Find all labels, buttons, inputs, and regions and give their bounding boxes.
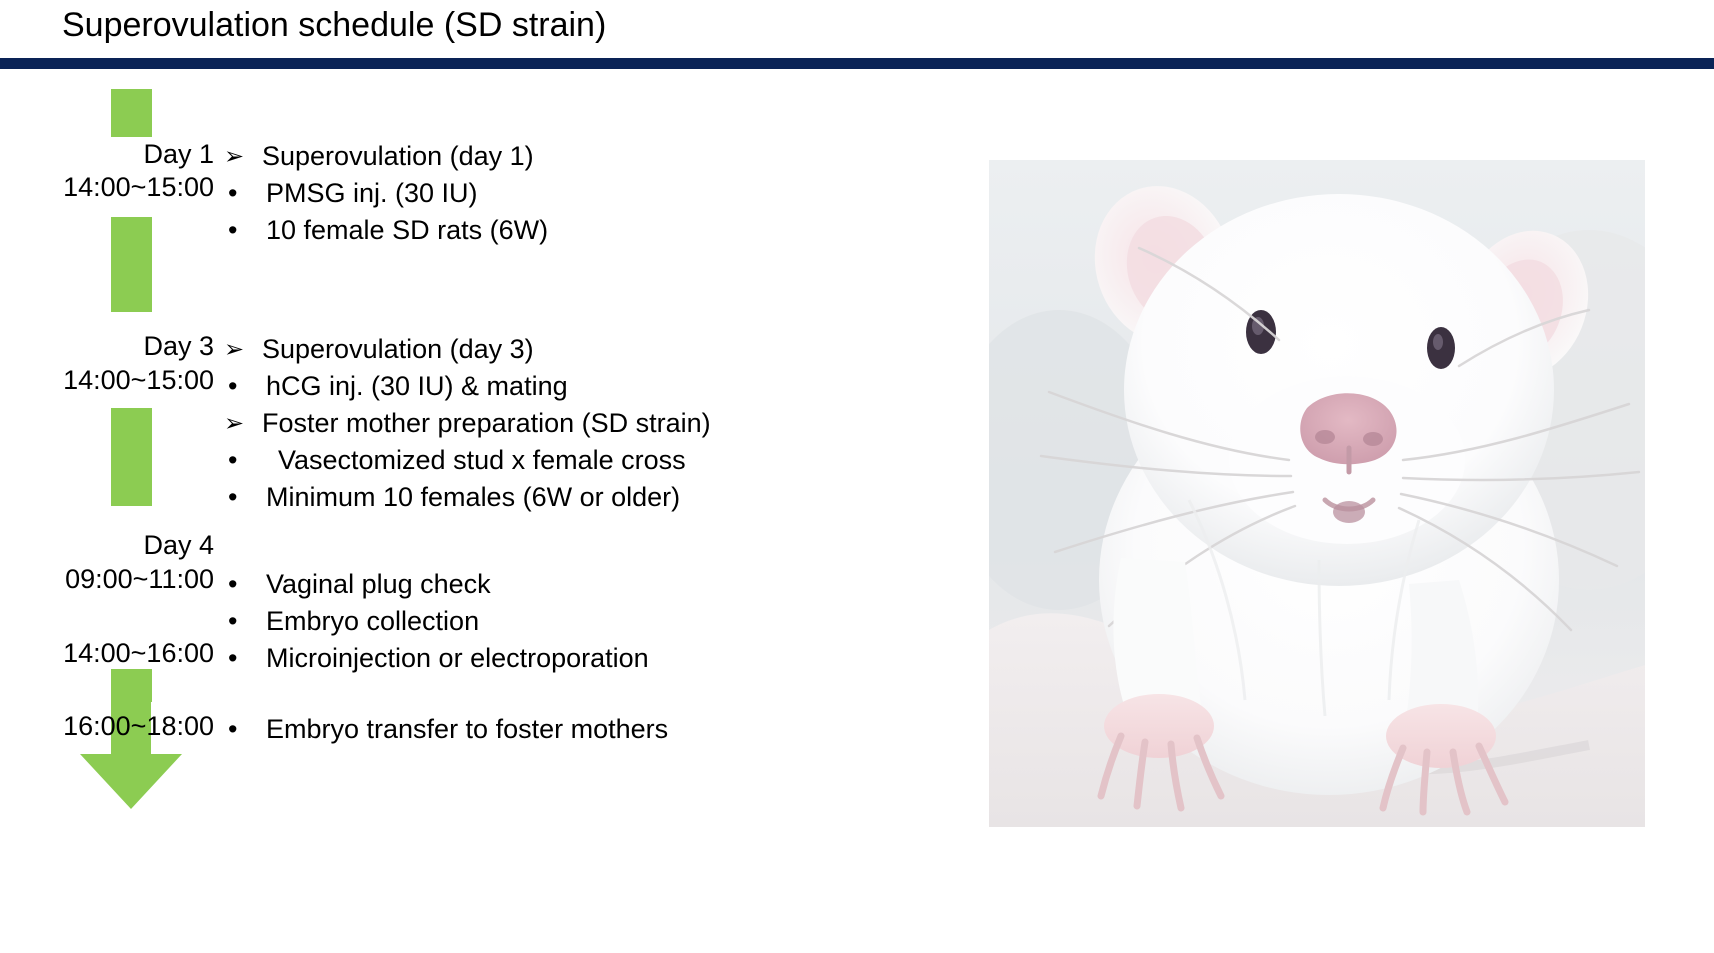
timeline-label-day4: Day 4 (0, 527, 214, 563)
dot-bullet-icon: • (224, 368, 266, 405)
timeline-time-day3: 14:00~15:00 (0, 362, 214, 398)
bullet-text: Vasectomized stud x female cross (266, 442, 686, 479)
timeline-segment-4 (111, 669, 152, 702)
bullet-text: Foster mother preparation (SD strain) (262, 405, 711, 442)
arrow-bullet-icon: ➢ (224, 405, 262, 442)
timeline-time-day4-third: 16:00~18:00 (0, 708, 214, 744)
bullet-group-day3: ➢Superovulation (day 3)•hCG inj. (30 IU)… (224, 331, 964, 516)
dot-bullet-icon: • (224, 566, 266, 603)
arrow-bullet-icon: ➢ (224, 331, 262, 368)
bullet-group-day1: ➢Superovulation (day 1)•PMSG inj. (30 IU… (224, 138, 964, 249)
bullet-line: •Embryo transfer to foster mothers (224, 711, 964, 748)
bullet-text: Minimum 10 females (6W or older) (266, 479, 680, 516)
bullet-group-day4-morning: •Vaginal plug check•Embryo collection•Mi… (224, 566, 964, 677)
bullet-line: ➢Superovulation (day 1) (224, 138, 964, 175)
bullet-text: Vaginal plug check (266, 566, 491, 603)
bullet-text: Embryo collection (266, 603, 479, 640)
arrow-bullet-icon: ➢ (224, 138, 262, 175)
bullet-text: Superovulation (day 1) (262, 138, 534, 175)
dot-bullet-icon: • (224, 603, 266, 640)
timeline-time-day1: 14:00~15:00 (0, 169, 214, 205)
dot-bullet-icon: • (224, 711, 266, 748)
bullet-text: Embryo transfer to foster mothers (266, 711, 668, 748)
bullet-text: PMSG inj. (30 IU) (266, 175, 478, 212)
timeline-segment-3 (111, 408, 152, 506)
bullet-line: •Microinjection or electroporation (224, 640, 964, 677)
timeline-column: Day 1 14:00~15:00 Day 3 14:00~15:00 Day … (0, 69, 240, 953)
bullet-group-day4-evening: •Embryo transfer to foster mothers (224, 711, 964, 748)
white-albino-sd-rat-photo (989, 160, 1645, 827)
title-divider (0, 58, 1714, 69)
timeline-time-day4-first: 09:00~11:00 (0, 561, 214, 597)
timeline-time-day4-second: 14:00~16:00 (0, 635, 214, 671)
content-column: ➢Superovulation (day 1)•PMSG inj. (30 IU… (224, 69, 964, 953)
bullet-text: Microinjection or electroporation (266, 640, 649, 677)
timeline-segment-1 (111, 89, 152, 137)
bullet-line: •hCG inj. (30 IU) & mating (224, 368, 964, 405)
dot-bullet-icon: • (224, 442, 266, 479)
dot-bullet-icon: • (224, 175, 266, 212)
timeline-label-day3: Day 3 (0, 328, 214, 364)
bullet-line: ➢Superovulation (day 3) (224, 331, 964, 368)
dot-bullet-icon: • (224, 479, 266, 516)
bullet-text: hCG inj. (30 IU) & mating (266, 368, 568, 405)
bullet-line: •PMSG inj. (30 IU) (224, 175, 964, 212)
dot-bullet-icon: • (224, 640, 266, 677)
timeline-segment-2 (111, 217, 152, 312)
bullet-line: •10 female SD rats (6W) (224, 212, 964, 249)
bullet-text: 10 female SD rats (6W) (266, 212, 548, 249)
bullet-text: Superovulation (day 3) (262, 331, 534, 368)
bullet-line: •Vaginal plug check (224, 566, 964, 603)
bullet-line: ➢Foster mother preparation (SD strain) (224, 405, 964, 442)
bullet-line: •Embryo collection (224, 603, 964, 640)
timeline-label-day1: Day 1 (0, 136, 214, 172)
page-title: Superovulation schedule (SD strain) (62, 4, 606, 46)
bullet-line: •Minimum 10 females (6W or older) (224, 479, 964, 516)
dot-bullet-icon: • (224, 212, 266, 249)
bullet-line: •Vasectomized stud x female cross (224, 442, 964, 479)
